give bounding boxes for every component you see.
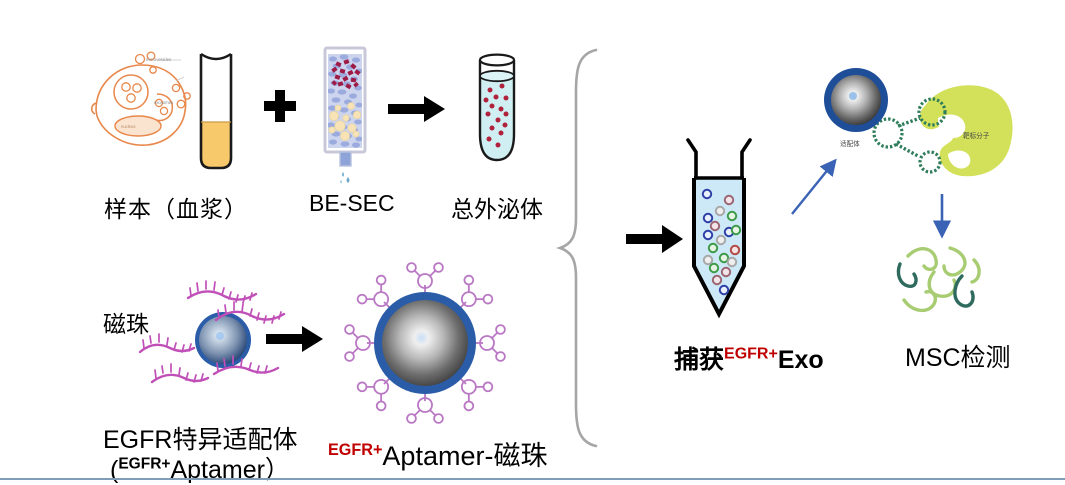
capture-cn: 捕获	[674, 346, 724, 374]
label-sample: 样本（血浆）	[104, 190, 248, 224]
cell-label-nucleus: nucleus	[121, 124, 135, 129]
plasma-tube-icon	[193, 50, 239, 172]
egfr-superscript: EGFR+	[118, 456, 170, 473]
egfr-superscript-red: EGFR+	[328, 441, 382, 459]
arrow-right-icon-1	[388, 95, 446, 123]
curly-brace-icon	[556, 46, 606, 450]
arrow-down-icon	[930, 192, 956, 242]
be-sec-column-icon	[318, 44, 380, 190]
plus-icon	[262, 88, 298, 124]
cell-diagram: microvesicles exosomes nucleus	[84, 48, 204, 163]
label-total-exosomes: 总外泌体	[451, 190, 543, 224]
cell-label-microvesicles: microvesicles	[146, 57, 171, 62]
arrow-right-icon-3	[626, 224, 684, 254]
aptamer-bead-conjugate-icon	[340, 265, 510, 425]
binding-label-aptamer: 适配体	[840, 139, 860, 148]
label-be-sec: BE-SEC	[309, 190, 395, 217]
bottom-divider	[0, 478, 1065, 480]
egfr-superscript-capture: EGFR+	[724, 346, 778, 363]
workflow-diagram: microvesicles exosomes nucleus microvesi…	[0, 0, 1065, 485]
total-exosome-tube-icon	[468, 50, 526, 170]
msc-detection-icon	[890, 238, 1000, 328]
label-capture-exo: 捕获EGFR+Exo	[674, 340, 824, 376]
label-aptamer-bead: EGFR+Aptamer-磁珠	[328, 434, 547, 473]
aptamer-bead-main: Aptamer-磁珠	[382, 441, 547, 471]
arrow-right-icon-2	[266, 325, 324, 353]
capture-tube-icon	[680, 138, 758, 336]
cell-label-exosomes: exosomes	[154, 100, 173, 105]
binding-label-target: 靶标分子	[963, 131, 990, 140]
label-msc-detection: MSC检测	[905, 338, 1011, 374]
binding-complex-icon: 适配体 靶标分子	[820, 62, 1020, 187]
capture-exo-word: Exo	[778, 346, 824, 374]
